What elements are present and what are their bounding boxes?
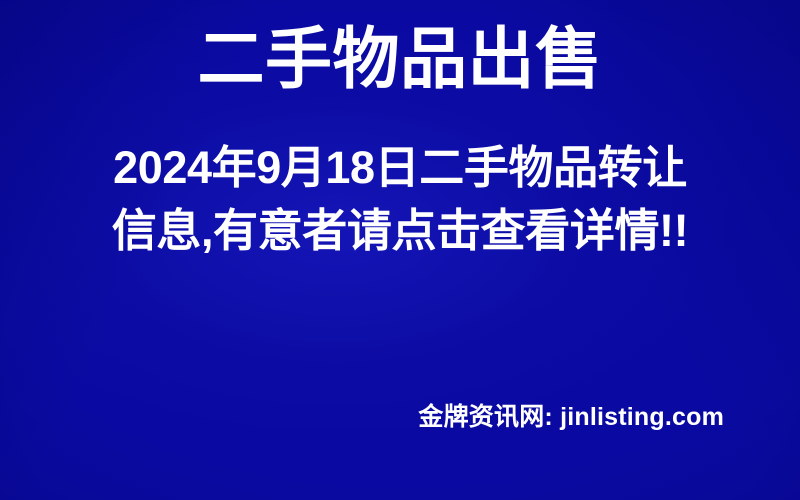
poster-body: 2024年9月18日二手物品转让 信息,有意者请点击查看详情!!	[0, 136, 800, 262]
poster-body-line-2: 信息,有意者请点击查看详情!!	[0, 199, 800, 262]
poster-headline: 二手物品出售	[0, 24, 800, 96]
poster-content: 二手物品出售 2024年9月18日二手物品转让 信息,有意者请点击查看详情!! …	[0, 0, 800, 500]
poster-footer-credit: 金牌资讯网: jinlisting.com	[0, 402, 724, 432]
poster-body-line-1: 2024年9月18日二手物品转让	[0, 136, 800, 199]
promo-poster: 二手物品出售 2024年9月18日二手物品转让 信息,有意者请点击查看详情!! …	[0, 0, 800, 500]
